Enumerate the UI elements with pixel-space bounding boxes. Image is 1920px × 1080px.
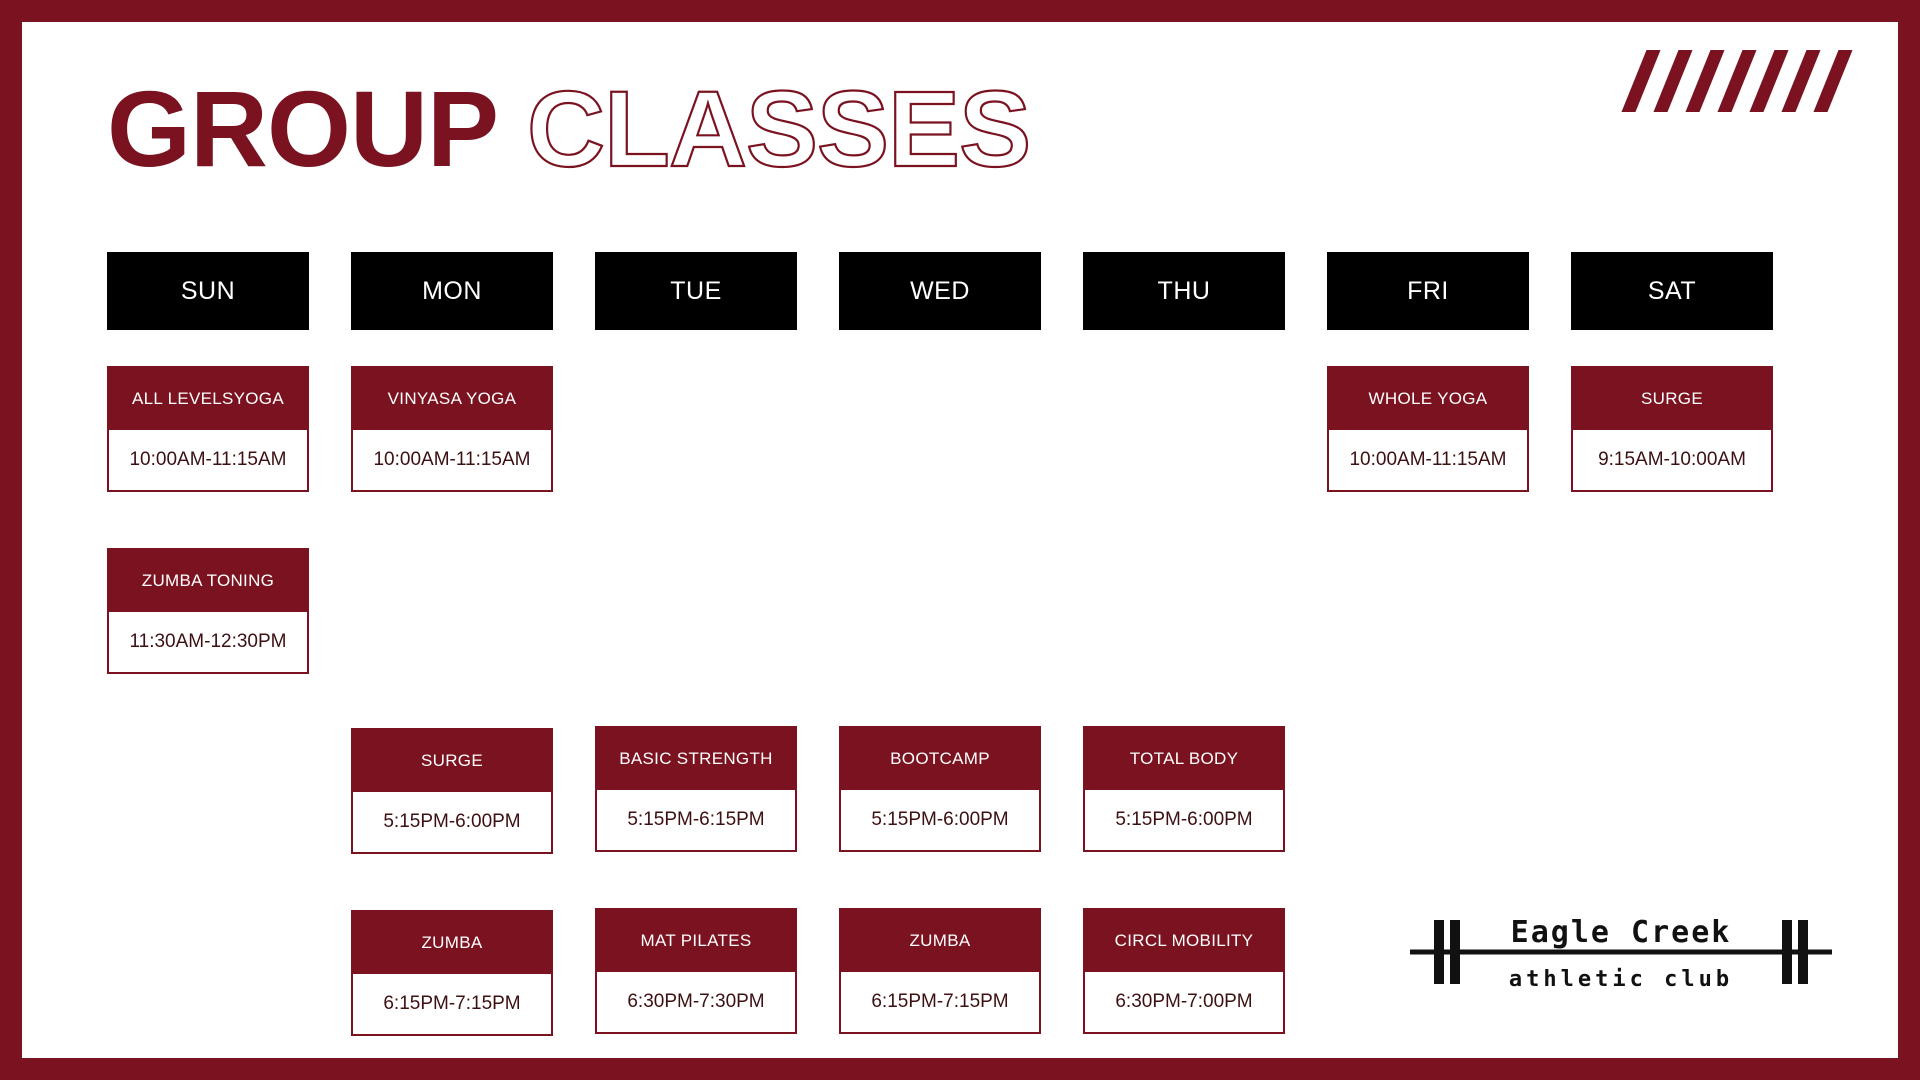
class-name: ZUMBA — [841, 910, 1039, 972]
class-card[interactable]: SURGE9:15AM-10:00AM — [1571, 366, 1773, 492]
class-time: 5:15PM-6:00PM — [841, 790, 1039, 850]
class-time: 9:15AM-10:00AM — [1573, 430, 1771, 490]
class-time: 5:15PM-6:15PM — [597, 790, 795, 850]
day-column-tue: BASIC STRENGTH5:15PM-6:15PMMAT PILATES6:… — [595, 366, 797, 1080]
class-name: BASIC STRENGTH — [597, 728, 795, 790]
brand-logo: Eagle Creek athletic club — [1406, 904, 1836, 1000]
class-card[interactable]: TOTAL BODY5:15PM-6:00PM — [1083, 726, 1285, 852]
class-name: ZUMBA TONING — [109, 550, 307, 612]
class-time: 6:30PM-7:30PM — [597, 972, 795, 1032]
class-name: SURGE — [1573, 368, 1771, 430]
class-card[interactable]: SURGE5:15PM-6:00PM — [351, 728, 553, 854]
slash-decoration — [1634, 50, 1840, 112]
class-card[interactable]: BASIC STRENGTH5:15PM-6:15PM — [595, 726, 797, 852]
diagonal-slash-icon — [1717, 50, 1756, 112]
day-column-mon: VINYASA YOGA10:00AM-11:15AMSURGE5:15PM-6… — [351, 366, 553, 1080]
diagonal-slash-icon — [1749, 50, 1788, 112]
day-column-sun: ALL LEVELSYOGA10:00AM-11:15AMZUMBA TONIN… — [107, 366, 309, 1080]
day-header-row: SUNMONTUEWEDTHUFRISAT — [107, 252, 1813, 330]
diagonal-slash-icon — [1813, 50, 1852, 112]
poster-inner-panel: GROUP CLASSES SUNMONTUEWEDTHUFRISAT ALL … — [22, 22, 1898, 1058]
class-card[interactable]: ZUMBA6:15PM-7:15PM — [351, 910, 553, 1036]
diagonal-slash-icon — [1653, 50, 1692, 112]
class-card[interactable]: ZUMBA6:15PM-7:15PM — [839, 908, 1041, 1034]
poster-root: GROUP CLASSES SUNMONTUEWEDTHUFRISAT ALL … — [0, 0, 1920, 1080]
diagonal-slash-icon — [1781, 50, 1820, 112]
class-card[interactable]: WHOLE YOGA10:00AM-11:15AM — [1327, 366, 1529, 492]
day-header-fri: FRI — [1327, 252, 1529, 330]
logo-name-top: Eagle Creek — [1511, 915, 1732, 950]
day-column-wed: BOOTCAMP5:15PM-6:00PMZUMBA6:15PM-7:15PM — [839, 366, 1041, 1080]
class-time: 10:00AM-11:15AM — [353, 430, 551, 490]
class-name: ZUMBA — [353, 912, 551, 974]
day-header-wed: WED — [839, 252, 1041, 330]
class-time: 5:15PM-6:00PM — [1085, 790, 1283, 850]
barbell-icon: Eagle Creek athletic club — [1406, 904, 1836, 1000]
day-header-mon: MON — [351, 252, 553, 330]
title-word-outline: CLASSES — [527, 70, 1030, 188]
class-time: 11:30AM-12:30PM — [109, 612, 307, 672]
class-time: 6:30PM-7:00PM — [1085, 972, 1283, 1032]
day-header-sun: SUN — [107, 252, 309, 330]
logo-name-bottom: athletic club — [1509, 967, 1733, 992]
class-card[interactable]: ZUMBA TONING11:30AM-12:30PM — [107, 548, 309, 674]
class-card[interactable]: CIRCL MOBILITY6:30PM-7:00PM — [1083, 908, 1285, 1034]
class-name: CIRCL MOBILITY — [1085, 910, 1283, 972]
class-time: 5:15PM-6:00PM — [353, 792, 551, 852]
class-time: 10:00AM-11:15AM — [1329, 430, 1527, 490]
class-time: 10:00AM-11:15AM — [109, 430, 307, 490]
day-header-tue: TUE — [595, 252, 797, 330]
class-card[interactable]: MAT PILATES6:30PM-7:30PM — [595, 908, 797, 1034]
title-word-solid: GROUP — [107, 70, 498, 188]
class-time: 6:15PM-7:15PM — [353, 974, 551, 1034]
page-title: GROUP CLASSES — [107, 70, 1807, 190]
day-column-thu: TOTAL BODY5:15PM-6:00PMCIRCL MOBILITY6:3… — [1083, 366, 1285, 1080]
class-card[interactable]: BOOTCAMP5:15PM-6:00PM — [839, 726, 1041, 852]
class-name: ALL LEVELSYOGA — [109, 368, 307, 430]
class-name: SURGE — [353, 730, 551, 792]
class-name: BOOTCAMP — [841, 728, 1039, 790]
class-name: WHOLE YOGA — [1329, 368, 1527, 430]
class-name: VINYASA YOGA — [353, 368, 551, 430]
class-card[interactable]: VINYASA YOGA10:00AM-11:15AM — [351, 366, 553, 492]
class-name: MAT PILATES — [597, 910, 795, 972]
class-card[interactable]: ALL LEVELSYOGA10:00AM-11:15AM — [107, 366, 309, 492]
day-header-thu: THU — [1083, 252, 1285, 330]
class-time: 6:15PM-7:15PM — [841, 972, 1039, 1032]
day-header-sat: SAT — [1571, 252, 1773, 330]
diagonal-slash-icon — [1685, 50, 1724, 112]
class-name: TOTAL BODY — [1085, 728, 1283, 790]
